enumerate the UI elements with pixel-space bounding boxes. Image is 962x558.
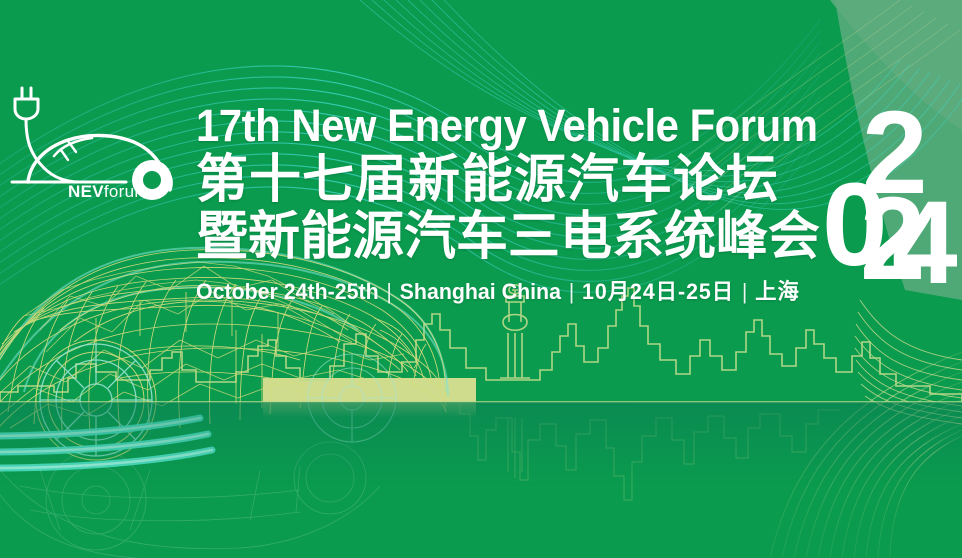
- title-chinese-line1: 第十七届新能源汽车论坛: [196, 152, 846, 209]
- separator-2: |: [561, 279, 582, 304]
- city-english: Shanghai China: [400, 279, 561, 304]
- event-details-line: October 24th-25th|Shanghai China|10月24日-…: [196, 274, 827, 306]
- city-chinese: 上海: [755, 279, 800, 304]
- date-chinese: 10月24日-25日: [582, 279, 734, 304]
- separator-1: |: [379, 279, 400, 304]
- event-banner: NEVforum 17th New Energy Vehicle Forum 第…: [0, 0, 962, 558]
- water-reflection-plane: [0, 402, 962, 558]
- logo-brand-bold: NEV: [68, 182, 104, 201]
- ground-bar: [263, 378, 476, 402]
- date-english: October 24th-25th: [196, 279, 379, 304]
- separator-3: |: [734, 279, 755, 304]
- logo-wordmark: NEVforum: [68, 182, 149, 202]
- title-english: 17th New Energy Vehicle Forum: [196, 100, 801, 152]
- title-chinese-line2: 暨新能源汽车三电系统峰会: [196, 209, 846, 266]
- headline-block: 17th New Energy Vehicle Forum 第十七届新能源汽车论…: [196, 100, 846, 306]
- charging-plug-icon: [15, 88, 38, 119]
- year-digit-4: 4: [892, 184, 958, 302]
- year-2024-graphic: 2 0 2 4: [840, 108, 958, 313]
- logo-brand-light: forum: [104, 182, 149, 201]
